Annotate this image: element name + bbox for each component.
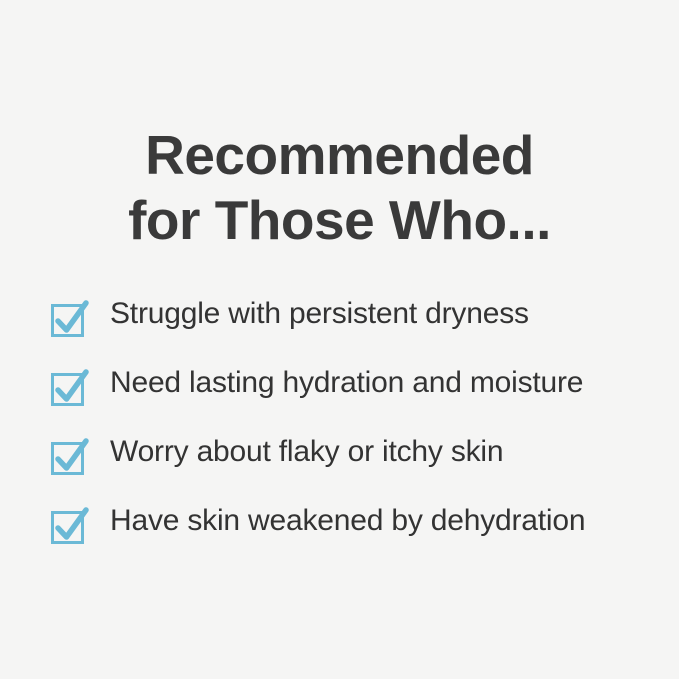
page-title-line-2: for Those Who... [0, 188, 679, 253]
checkbox-checked-icon [50, 438, 90, 478]
list-item: Need lasting hydration and moisture [50, 363, 650, 432]
checkbox-checked-icon [50, 507, 90, 547]
list-item-label: Need lasting hydration and moisture [110, 363, 583, 403]
list-item: Struggle with persistent dryness [50, 294, 650, 363]
list-item-label: Worry about flaky or itchy skin [110, 432, 503, 472]
list-item: Worry about flaky or itchy skin [50, 432, 650, 501]
page-title: Recommended for Those Who... [0, 123, 679, 253]
promo-card: Recommended for Those Who... Struggle wi… [0, 0, 679, 679]
list-item: Have skin weakened by dehydration [50, 501, 650, 570]
list-item-label: Struggle with persistent dryness [110, 294, 529, 334]
benefits-checklist: Struggle with persistent dryness Need la… [50, 294, 650, 570]
list-item-label: Have skin weakened by dehydration [110, 501, 585, 541]
page-title-line-1: Recommended [0, 123, 679, 188]
checkbox-checked-icon [50, 369, 90, 409]
checkbox-checked-icon [50, 300, 90, 340]
